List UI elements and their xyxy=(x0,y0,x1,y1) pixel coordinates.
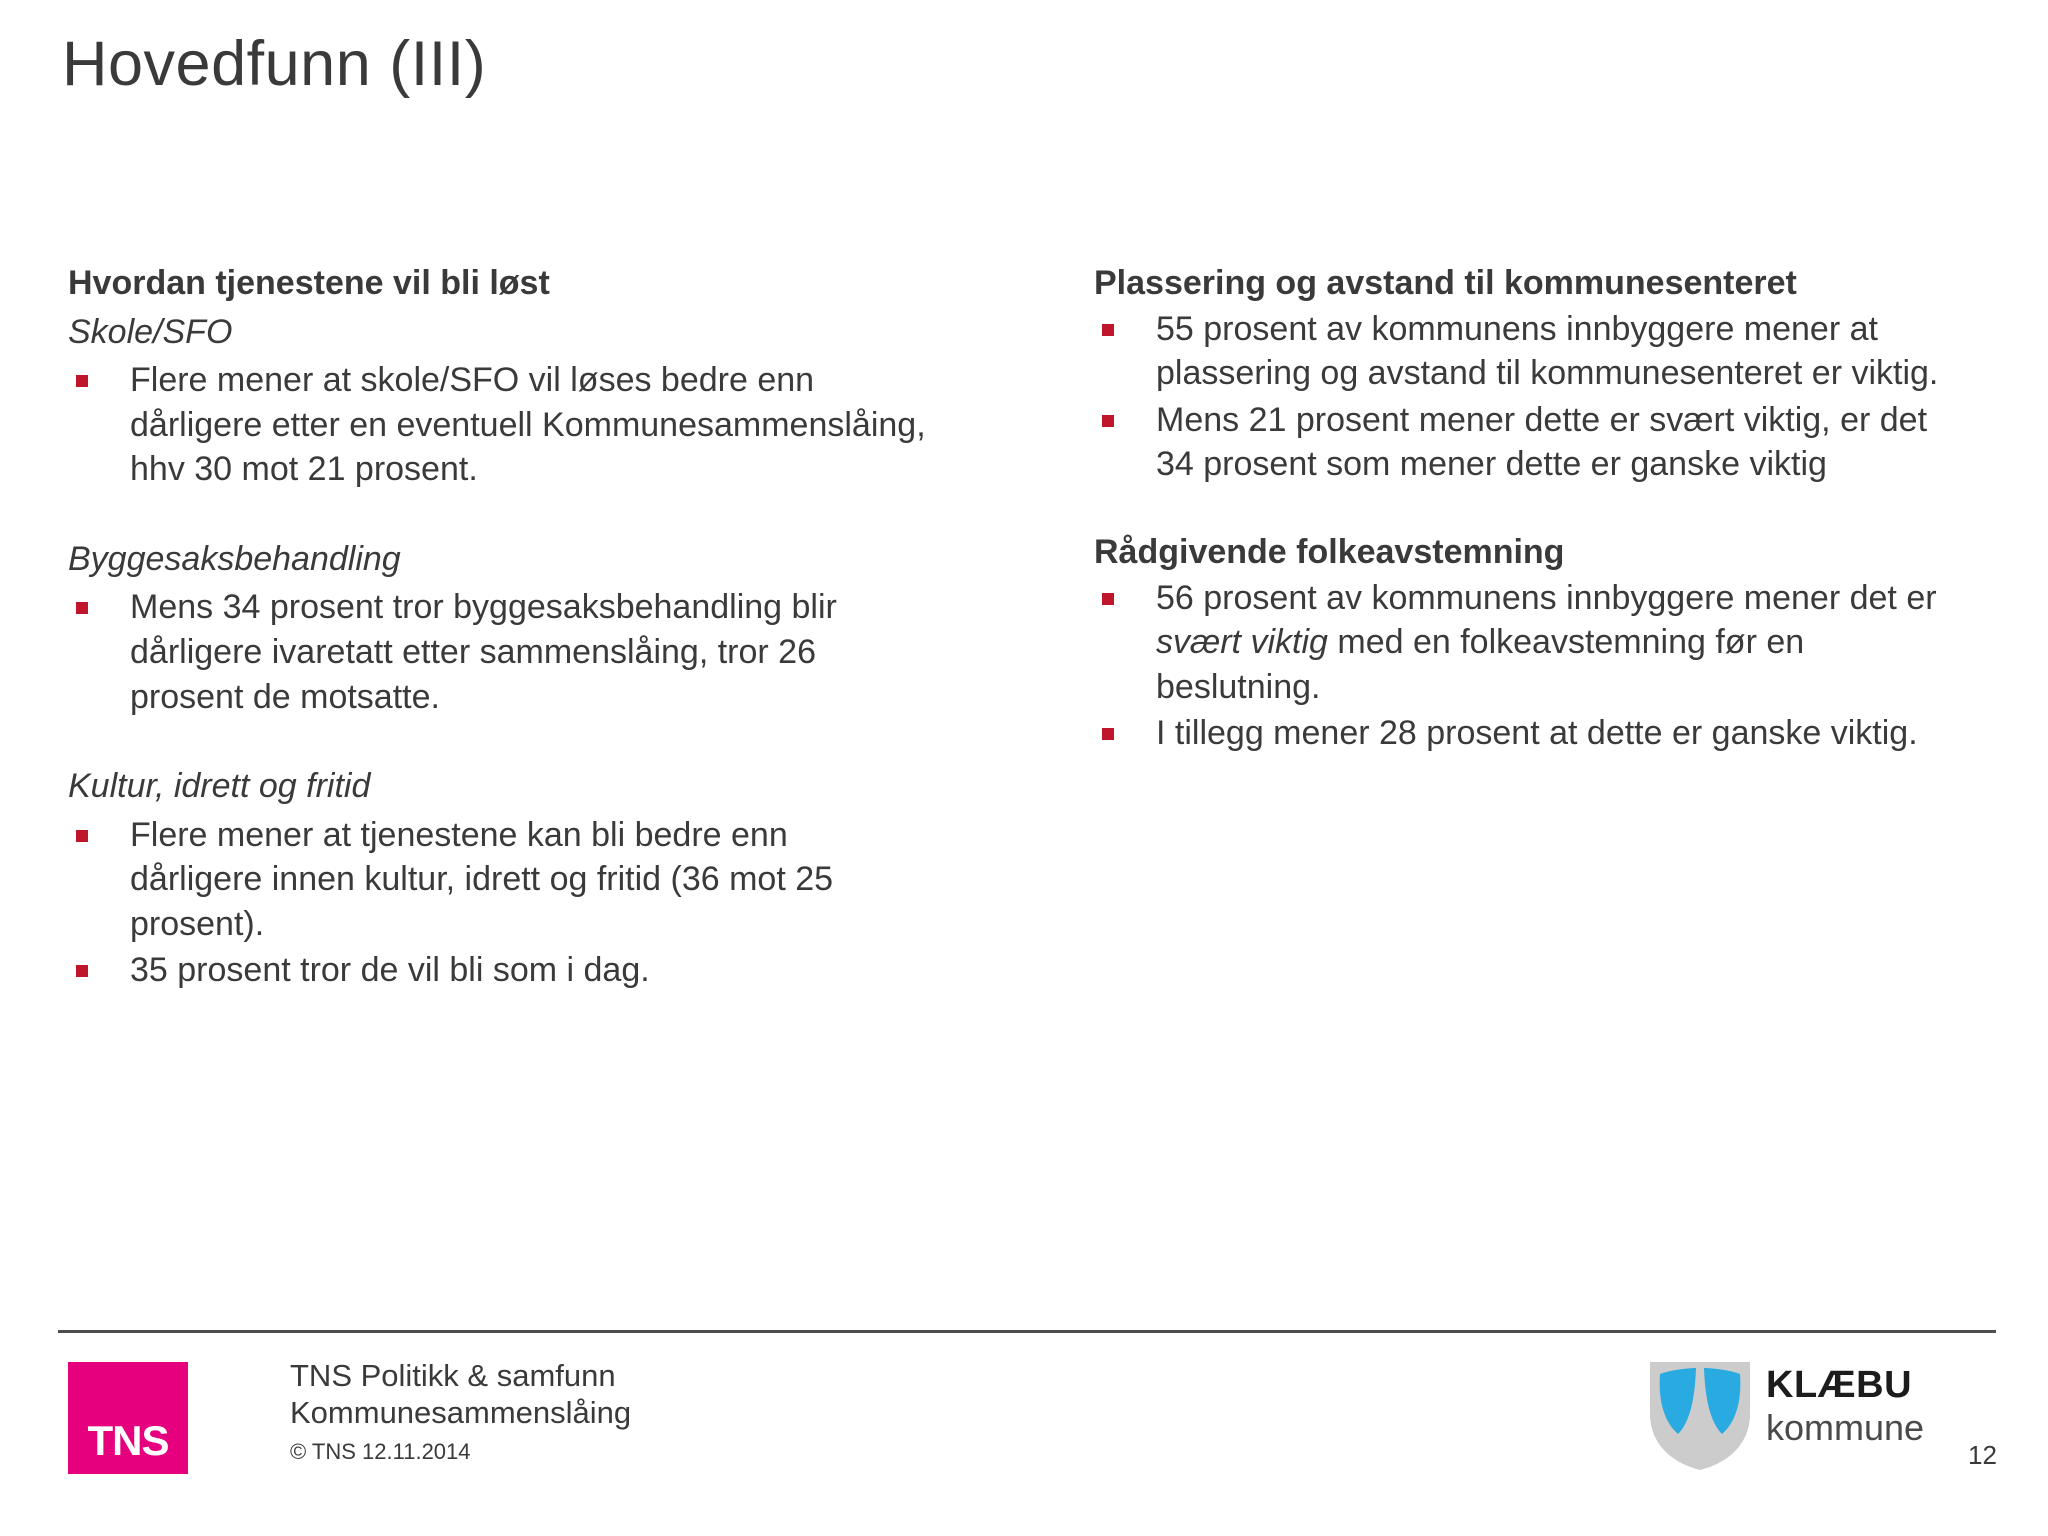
footer-line-2: Kommunesammenslåing xyxy=(290,1395,631,1432)
square-bullet-icon xyxy=(1102,324,1114,336)
klabu-logo-text: KLÆBU kommune xyxy=(1766,1366,1924,1447)
list-item-text: Mens 34 prosent tror byggesaksbehandling… xyxy=(130,588,837,715)
subheading-byggesaksbehandling: Byggesaksbehandling xyxy=(68,538,928,582)
list-item-text: 56 prosent av kommunens innbyggere mener… xyxy=(1156,579,1937,706)
bullet-list-skole-sfo: Flere mener at skole/SFO vil løses bedre… xyxy=(68,358,928,492)
list-item: 35 prosent tror de vil bli som i dag. xyxy=(68,948,928,993)
list-item-text: Flere mener at tjenestene kan bli bedre … xyxy=(130,816,833,943)
klabu-kommune-logo: KLÆBU kommune xyxy=(1648,1360,1988,1482)
tns-logo: TNS xyxy=(68,1362,188,1474)
bullet-list-plassering: 55 prosent av kommunens innbyggere mener… xyxy=(1094,307,1974,487)
page-number: 12 xyxy=(1968,1440,1997,1471)
tns-logo-text: TNS xyxy=(68,1417,188,1465)
right-column-heading-plassering: Plassering og avstand til kommunesentere… xyxy=(1094,262,1974,305)
square-bullet-icon xyxy=(1102,593,1114,605)
footer-text-block: TNS Politikk & samfunn Kommunesammenslåi… xyxy=(290,1358,631,1465)
page-title: Hovedfunn (III) xyxy=(62,30,486,99)
slide-content: Hvordan tjenestene vil bli løst Skole/SF… xyxy=(0,262,2048,1262)
square-bullet-icon xyxy=(76,830,88,842)
left-column-heading: Hvordan tjenestene vil bli løst xyxy=(68,262,928,305)
klabu-logo-subtitle: kommune xyxy=(1766,1408,1924,1448)
square-bullet-icon xyxy=(76,602,88,614)
list-item: Flere mener at tjenestene kan bli bedre … xyxy=(68,813,928,947)
right-column: Plassering og avstand til kommunesentere… xyxy=(1094,262,1974,758)
right-column-heading-folkeavstemning: Rådgivende folkeavstemning xyxy=(1094,531,1974,574)
footer-divider xyxy=(58,1330,1996,1333)
list-item-text: Mens 21 prosent mener dette er svært vik… xyxy=(1156,401,1927,484)
square-bullet-icon xyxy=(76,965,88,977)
list-item-text: 55 prosent av kommunens innbyggere mener… xyxy=(1156,310,1938,393)
klabu-shield-icon xyxy=(1648,1360,1752,1472)
bullet-list-kultur-idrett-fritid: Flere mener at tjenestene kan bli bedre … xyxy=(68,813,928,993)
left-column: Hvordan tjenestene vil bli løst Skole/SF… xyxy=(68,262,928,995)
bullet-list-folkeavstemning: 56 prosent av kommunens innbyggere mener… xyxy=(1094,576,1974,756)
list-item: 55 prosent av kommunens innbyggere mener… xyxy=(1094,307,1974,396)
footer-line-1: TNS Politikk & samfunn xyxy=(290,1358,631,1395)
subheading-kultur-idrett-fritid: Kultur, idrett og fritid xyxy=(68,765,928,809)
list-item: 56 prosent av kommunens innbyggere mener… xyxy=(1094,576,1974,710)
square-bullet-icon xyxy=(1102,415,1114,427)
square-bullet-icon xyxy=(1102,728,1114,740)
list-item: Flere mener at skole/SFO vil løses bedre… xyxy=(68,358,928,492)
list-item-text: I tillegg mener 28 prosent at dette er g… xyxy=(1156,714,1918,752)
slide-footer: TNS TNS Politikk & samfunn Kommunesammen… xyxy=(0,1336,2048,1536)
subheading-skole-sfo: Skole/SFO xyxy=(68,311,928,355)
square-bullet-icon xyxy=(76,375,88,387)
footer-copyright: © TNS 12.11.2014 xyxy=(290,1439,631,1465)
klabu-logo-name: KLÆBU xyxy=(1766,1366,1924,1406)
list-item: I tillegg mener 28 prosent at dette er g… xyxy=(1094,711,1974,756)
bullet-list-byggesaksbehandling: Mens 34 prosent tror byggesaksbehandling… xyxy=(68,585,928,719)
list-item-text: 35 prosent tror de vil bli som i dag. xyxy=(130,951,650,989)
list-item-text: Flere mener at skole/SFO vil løses bedre… xyxy=(130,361,926,488)
list-item: Mens 34 prosent tror byggesaksbehandling… xyxy=(68,585,928,719)
list-item: Mens 21 prosent mener dette er svært vik… xyxy=(1094,398,1974,487)
